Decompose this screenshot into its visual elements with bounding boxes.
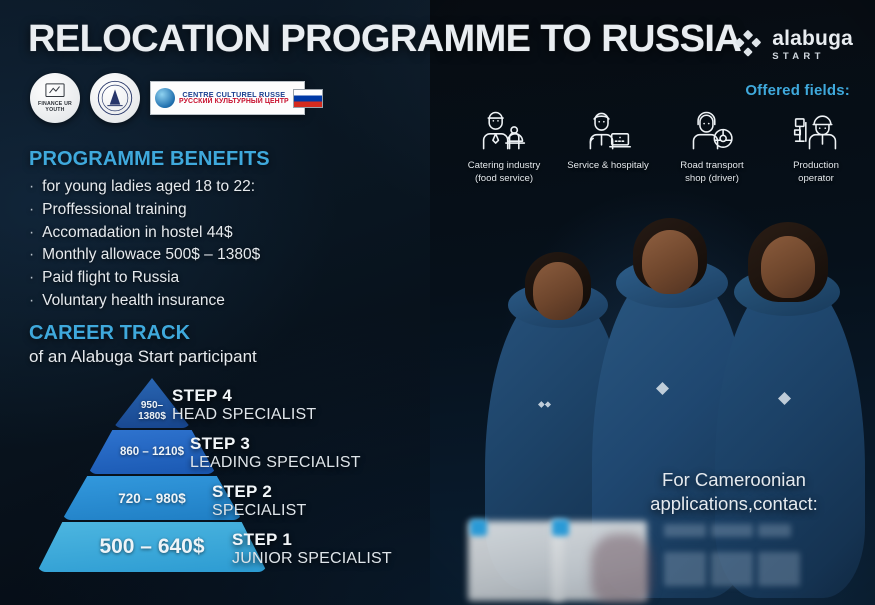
benefit-item: ·Proffessional training (29, 199, 429, 222)
bullet-icon: · (29, 267, 34, 290)
step-4-number: STEP 4 (172, 386, 316, 406)
benefit-item: ·Voluntary health insurance (29, 290, 429, 313)
career-heading: CAREER TRACK (29, 322, 449, 345)
bullet-icon: · (29, 176, 34, 199)
finance-youth-logo: FINANCE UR YOUTH (30, 73, 80, 123)
alabuga-wordmark: alabuga START (772, 28, 853, 62)
face-left (533, 262, 583, 320)
page-title: RELOCATION PROGRAMME TO RUSSIA (28, 18, 741, 61)
benefit-text: Proffessional training (42, 199, 186, 222)
career-track-section: CAREER TRACK of an Alabuga Start partici… (29, 322, 449, 367)
step-4-label: STEP 4 HEAD SPECIALIST (172, 386, 316, 424)
step-3-label: STEP 3 LEADING SPECIALIST (190, 434, 361, 472)
step-1-label: STEP 1 JUNIOR SPECIALIST (232, 530, 392, 568)
contact-grid-cell (664, 552, 706, 586)
russia-flag-icon (293, 89, 323, 108)
brand-subtitle: START (772, 52, 853, 62)
programme-benefits-section: PROGRAMME BENEFITS ·for young ladies age… (29, 148, 429, 313)
contact-badge-1 (470, 519, 487, 536)
bullet-icon: · (29, 290, 34, 313)
field-label-production: Productionoperator (767, 160, 865, 185)
factory-worker-helmet-icon (767, 105, 865, 157)
benefit-text: for young ladies aged 18 to 22: (42, 176, 255, 199)
field-label-transport: Road transportshop (driver) (663, 160, 761, 185)
benefit-item: ·Paid flight to Russia (29, 267, 429, 290)
contact-grid-cell (711, 552, 753, 586)
step-2-role: SPECIALIST (212, 502, 306, 520)
benefit-item: ·Monthly allowace 500$ – 1380$ (29, 244, 429, 267)
step-2-number: STEP 2 (212, 482, 306, 502)
step-1-number: STEP 1 (232, 530, 392, 550)
benefits-heading: PROGRAMME BENEFITS (29, 148, 429, 171)
face-middle (642, 230, 698, 294)
field-service-hospitality: Service & hospitaly (559, 105, 657, 185)
field-road-transport: Road transportshop (driver) (663, 105, 761, 185)
contact-callout: For Cameroonian applications,contact: (619, 468, 849, 517)
contact-line-1: For Cameroonian (619, 468, 849, 492)
benefit-text: Voluntary health insurance (42, 290, 225, 313)
career-step-labels: STEP 4 HEAD SPECIALIST STEP 3 LEADING SP… (0, 378, 440, 578)
poster-canvas: RELOCATION PROGRAMME TO RUSSIA alabuga S… (0, 0, 875, 605)
career-subtitle: of an Alabuga Start participant (29, 347, 449, 367)
benefit-text: Accomadation in hostel 44$ (42, 222, 232, 245)
benefit-item: ·Accomadation in hostel 44$ (29, 222, 429, 245)
step-1-role: JUNIOR SPECIALIST (232, 550, 392, 568)
waitress-tray-icon (455, 105, 553, 157)
benefits-list: ·for young ladies aged 18 to 22: ·Proffe… (29, 176, 429, 313)
offered-fields-label: Offered fields: (745, 82, 850, 99)
driver-steering-wheel-icon (663, 105, 761, 157)
ru-banner-line-ru: РУССКИЙ КУЛЬТУРНЫЙ ЦЕНТР (179, 98, 289, 105)
bullet-icon: · (29, 244, 34, 267)
benefit-text: Monthly allowace 500$ – 1380$ (42, 244, 260, 267)
alabuga-chevron-logo (733, 30, 763, 60)
face-right (761, 236, 815, 298)
step-3-role: LEADING SPECIALIST (190, 454, 361, 472)
globe-icon (155, 88, 175, 108)
field-catering-industry: Catering industry(food service) (455, 105, 553, 185)
brand-name: alabuga (772, 28, 853, 49)
bullet-icon: · (29, 222, 34, 245)
contact-badge-2 (552, 519, 569, 536)
partner-logos: FINANCE UR YOUTH CENTRE CULTUREL RUSSE Р… (30, 73, 305, 123)
ru-banner-text: CENTRE CULTUREL RUSSE РУССКИЙ КУЛЬТУРНЫЙ… (179, 91, 289, 106)
russian-cultural-centre-banner: CENTRE CULTUREL RUSSE РУССКИЙ КУЛЬТУРНЫЙ… (150, 81, 305, 115)
contact-grid-cell (758, 552, 800, 586)
bullet-icon: · (29, 199, 34, 222)
offered-fields-list: Catering industry(food service) (455, 105, 865, 185)
finance-youth-line2: YOUTH (45, 108, 64, 114)
contact-grid-cell (711, 524, 753, 537)
step-2-label: STEP 2 SPECIALIST (212, 482, 306, 520)
benefit-item: ·for young ladies aged 18 to 22: (29, 176, 429, 199)
step-4-role: HEAD SPECIALIST (172, 406, 316, 424)
blurred-figure (591, 534, 653, 604)
benefit-text: Paid flight to Russia (42, 267, 179, 290)
field-label-service: Service & hospitaly (559, 160, 657, 173)
contact-cards-blurred (466, 518, 875, 605)
field-production-operator: Productionoperator (767, 105, 865, 185)
association-seal-logo (90, 73, 140, 123)
contact-line-2: applications,contact: (619, 492, 849, 516)
step-3-number: STEP 3 (190, 434, 361, 454)
alabuga-brand: alabuga START (733, 28, 853, 62)
contact-grid-cell (664, 524, 706, 537)
contact-grid-cell (758, 524, 791, 537)
field-label-catering: Catering industry(food service) (455, 160, 553, 185)
receptionist-laptop-icon (559, 105, 657, 157)
